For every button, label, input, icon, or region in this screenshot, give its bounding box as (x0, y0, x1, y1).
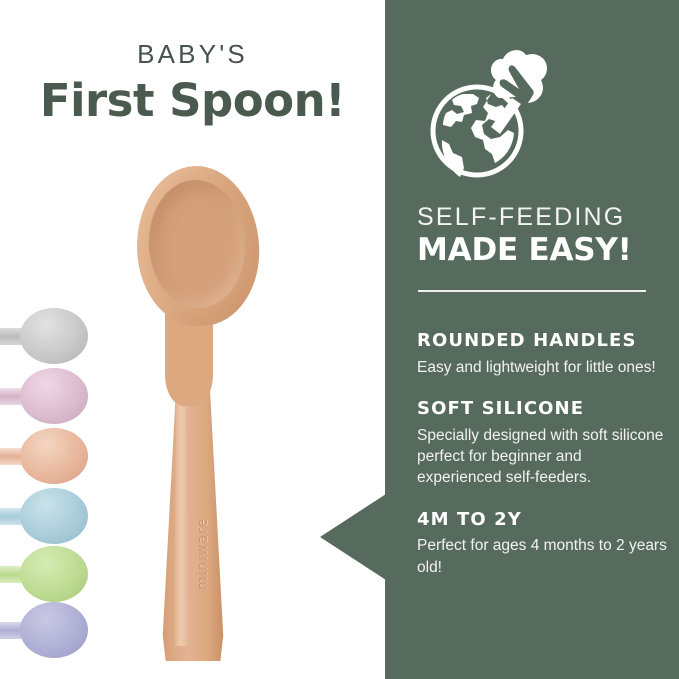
swatch-spoon-green (0, 546, 88, 602)
swatch-spoon-pink (0, 368, 88, 424)
swatch-spoon-bowl (20, 546, 88, 602)
feature-title: ROUNDED HANDLES (417, 330, 669, 352)
swatch-spoon-grey (0, 308, 88, 364)
swatch-spoon-peach (0, 428, 88, 484)
panel-header-line2: MADE EASY! (417, 233, 661, 268)
feature-body: Specially designed with soft silicone pe… (417, 425, 669, 489)
feature-item-rounded-handles: ROUNDED HANDLES Easy and lightweight for… (417, 330, 669, 378)
feature-title: 4M TO 2Y (417, 509, 669, 531)
swatch-spoon-blue (0, 488, 88, 544)
swatch-spoon-bowl (20, 428, 88, 484)
feature-item-age-range: 4M TO 2Y Perfect for ages 4 months to 2 … (417, 509, 669, 578)
feature-body: Perfect for ages 4 months to 2 years old… (417, 535, 669, 578)
brand-emboss-miniware: miniware (195, 494, 211, 614)
feature-body: Easy and lightweight for little ones! (417, 357, 669, 378)
left-panel: BABY'S First Spoon! (0, 0, 385, 679)
panel-header-line1: SELF-FEEDING (417, 204, 661, 231)
product-infographic: BABY'S First Spoon! (0, 0, 679, 679)
headline-eyebrow: BABY'S (0, 40, 385, 69)
headline-title: First Spoon! (0, 75, 385, 127)
swatch-spoon-periwinkle (0, 602, 88, 658)
header-divider (418, 290, 646, 292)
feature-item-soft-silicone: SOFT SILICONE Specially designed with so… (417, 398, 669, 489)
swatch-spoon-bowl (20, 368, 88, 424)
swatch-spoon-bowl (20, 488, 88, 544)
feature-list: ROUNDED HANDLES Easy and lightweight for… (417, 330, 669, 598)
panel-header: SELF-FEEDING MADE EASY! (417, 204, 661, 268)
globe-sprout-icon (417, 28, 573, 184)
headline-block: BABY'S First Spoon! (0, 40, 385, 126)
swatch-spoon-bowl (20, 308, 88, 364)
swatch-spoon-bowl (20, 602, 88, 658)
main-product-spoon: miniware (131, 166, 311, 660)
feature-title: SOFT SILICONE (417, 398, 669, 420)
